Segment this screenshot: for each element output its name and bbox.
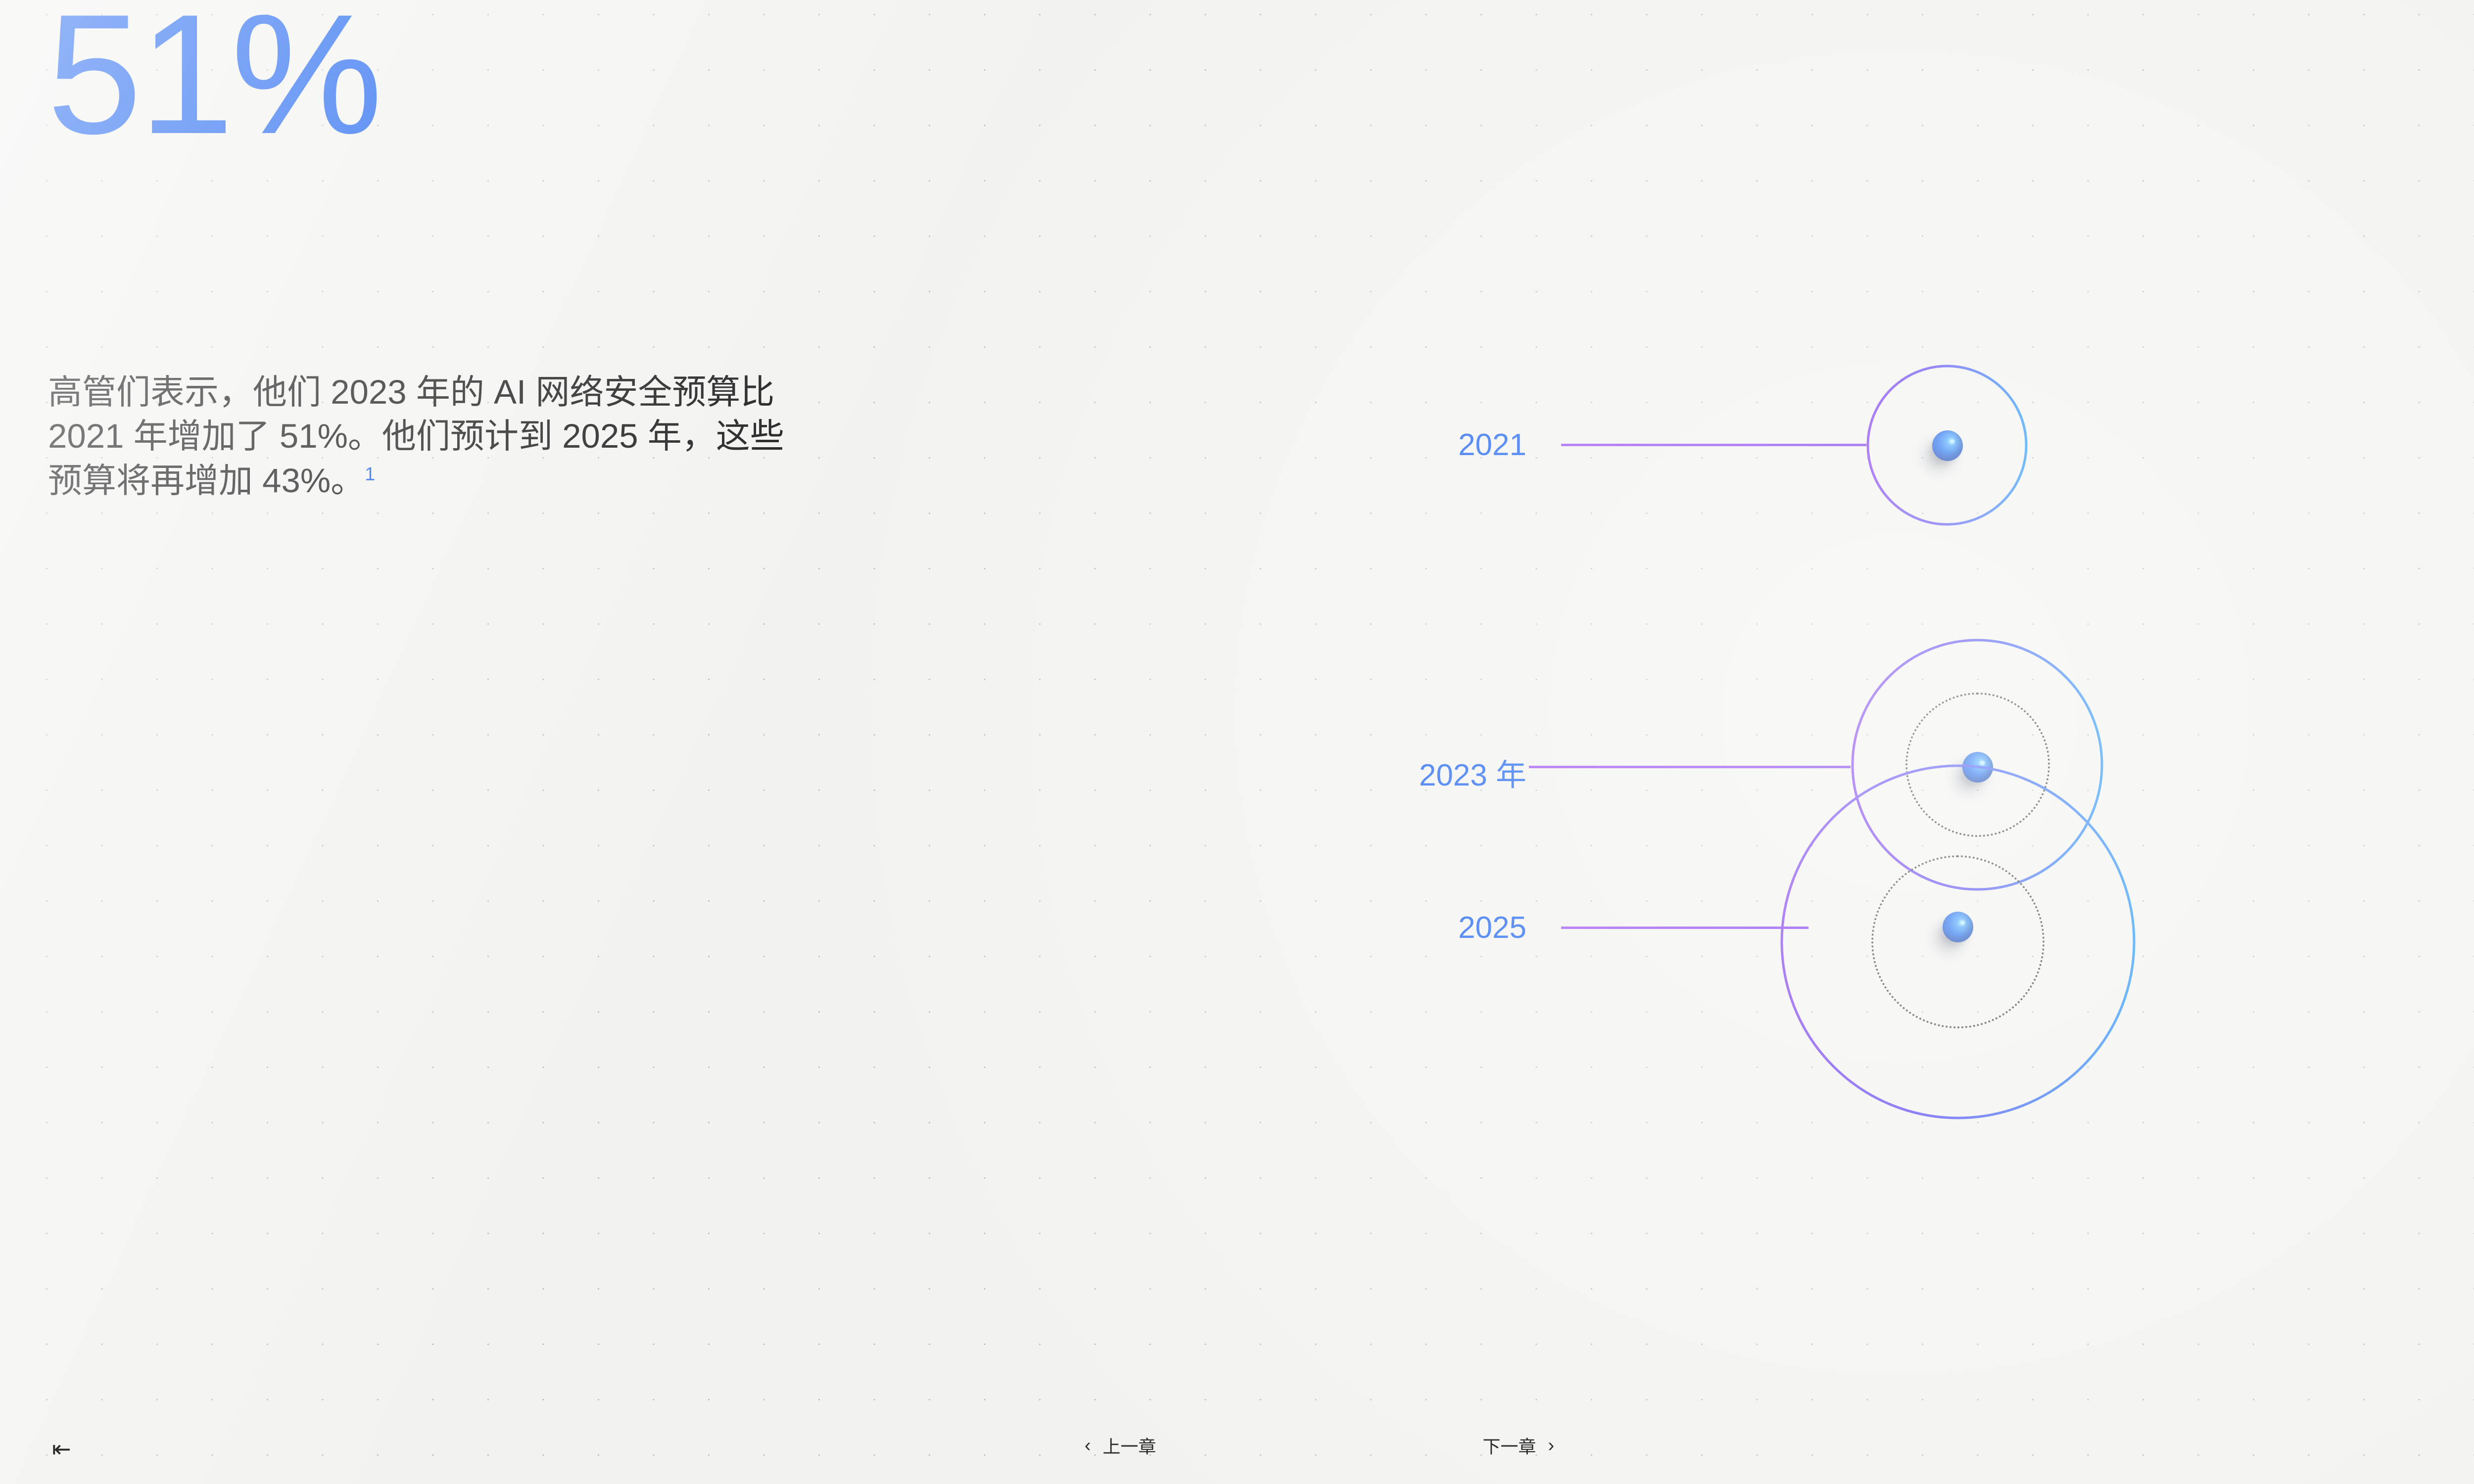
data-sphere-2025 xyxy=(1943,912,1973,942)
body-paragraph-text: 高管们表示，他们 2023 年的 AI 网络安全预算比 2021 年增加了 51… xyxy=(48,373,784,500)
next-chapter-label: 下一章 xyxy=(1483,1433,1536,1458)
data-sphere-2021 xyxy=(1932,430,1963,461)
chapter-navigation: ‹ 上一章 下一章 › xyxy=(1085,1433,1554,1458)
diagram-node-2021[interactable]: 2021 xyxy=(1336,297,2474,603)
headline-statistic: 51% xyxy=(47,0,380,160)
prev-chapter-label: 上一章 xyxy=(1102,1433,1156,1458)
prev-chapter-button[interactable]: ‹ 上一章 xyxy=(1085,1433,1156,1458)
footnote-reference: 1 xyxy=(365,464,375,485)
body-paragraph: 高管们表示，他们 2023 年的 AI 网络安全预算比 2021 年增加了 51… xyxy=(48,370,810,503)
chevron-right-icon: › xyxy=(1548,1436,1555,1455)
left-content-column: 51% 高管们表示，他们 2023 年的 AI 网络安全预算比 2021 年增加… xyxy=(47,0,888,1484)
next-chapter-button[interactable]: 下一章 › xyxy=(1483,1433,1555,1458)
first-page-icon[interactable]: ⇤ xyxy=(52,1438,70,1460)
connector-line-2021 xyxy=(1561,444,1866,446)
diagram-node-2025[interactable]: 2025 xyxy=(1336,881,2474,1306)
chevron-left-icon: ‹ xyxy=(1085,1436,1091,1455)
node-label-2021: 2021 xyxy=(1363,427,1526,463)
budget-growth-diagram: 2021 2023 年 xyxy=(1336,297,2474,1345)
footer-bar: ⇤ ‹ 上一章 下一章 › 8 xyxy=(0,1405,2474,1484)
connector-line-2025 xyxy=(1561,927,1808,929)
node-label-2023: 2023 年 xyxy=(1353,750,1526,794)
node-label-2025: 2025 xyxy=(1363,910,1526,945)
